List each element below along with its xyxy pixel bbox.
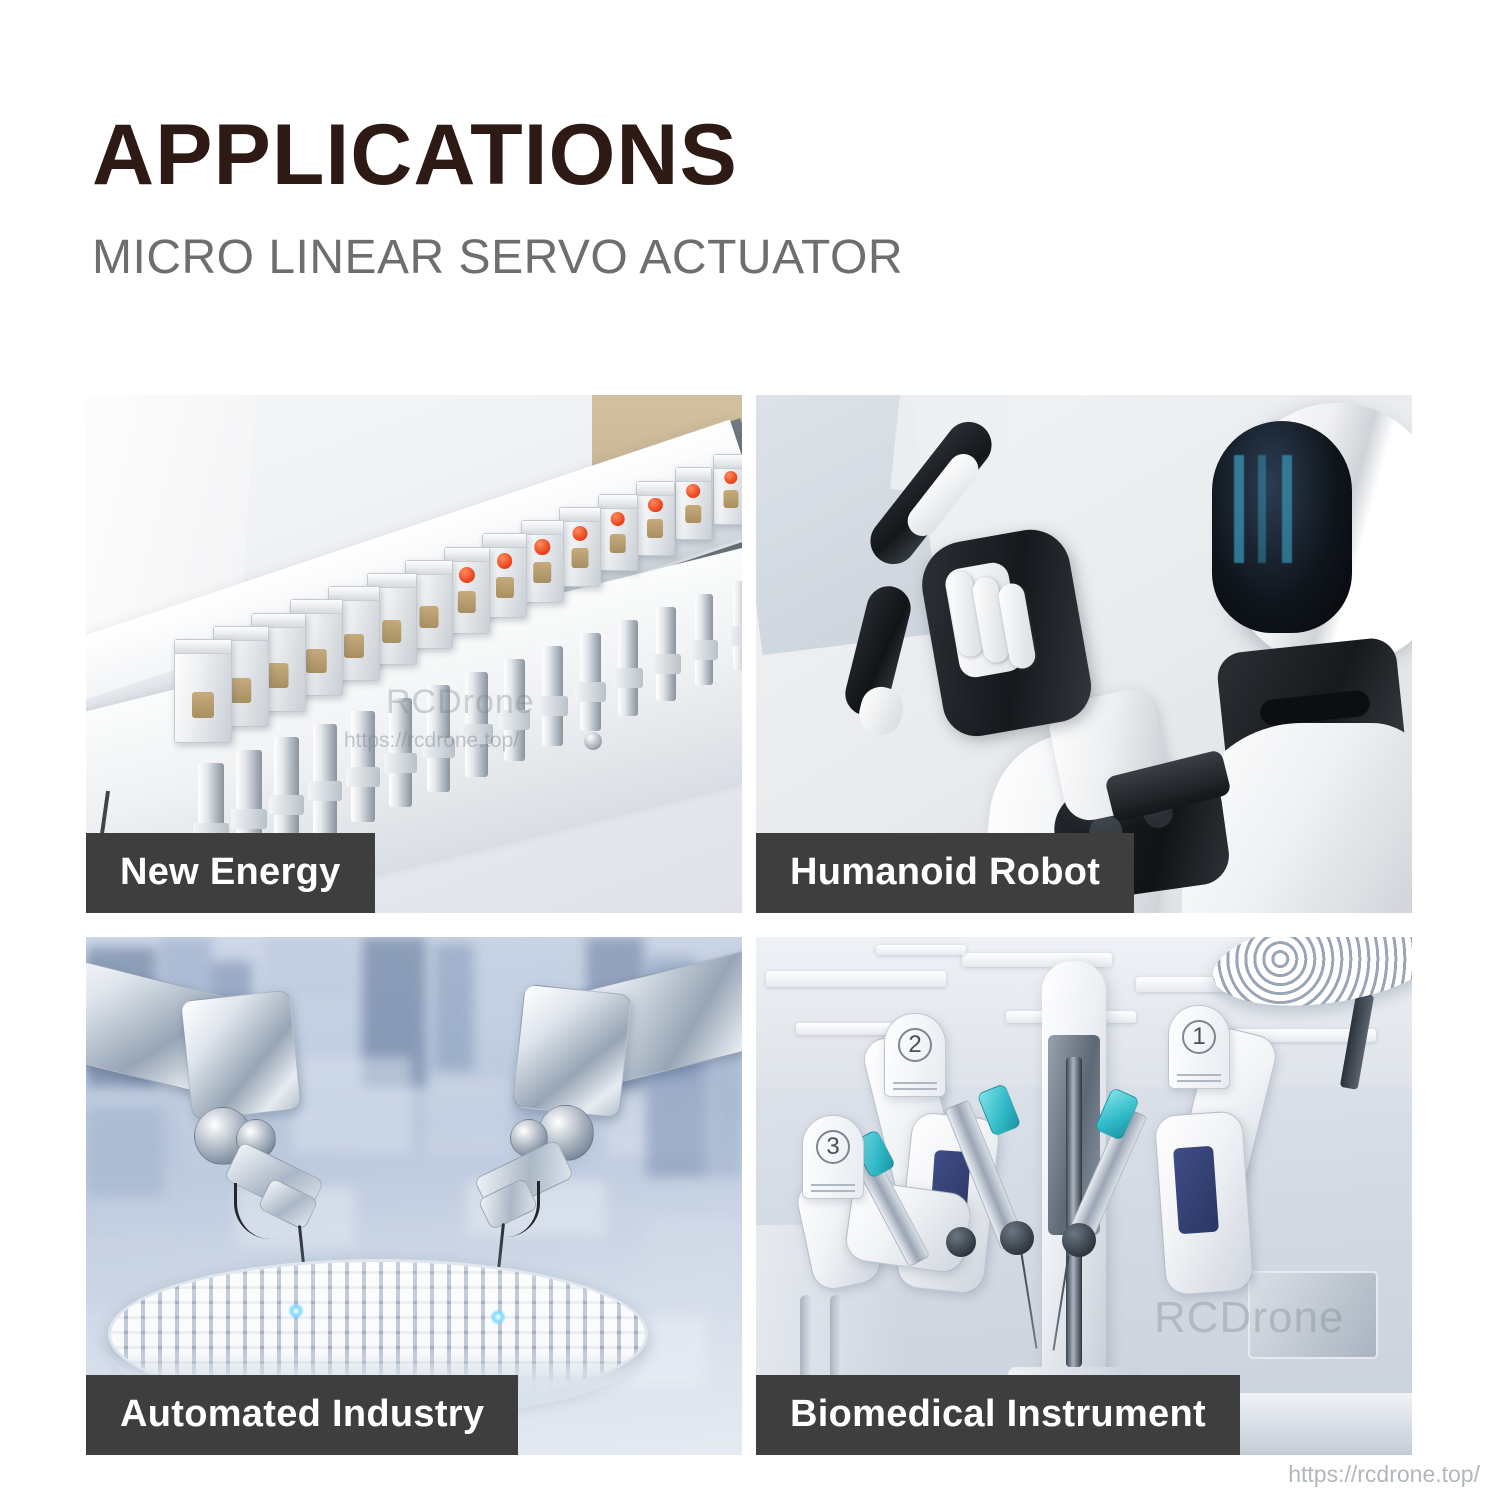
page-title: APPLICATIONS (92, 112, 903, 198)
applications-grid: RCDrone https://rcdrone.top/ New Energy (86, 395, 1412, 1455)
card-label-humanoid-robot: Humanoid Robot (756, 833, 1134, 913)
arm-number-2: 2 (898, 1028, 932, 1062)
card-label-new-energy: New Energy (86, 833, 375, 913)
arm-number-1: 1 (1182, 1020, 1216, 1054)
page-header: APPLICATIONS MICRO LINEAR SERVO ACTUATOR (92, 112, 903, 282)
arm-number-tag-2: 2 (884, 1013, 946, 1097)
arm-number-tag-1: 1 (1168, 1005, 1230, 1089)
card-label-biomedical-instrument: Biomedical Instrument (756, 1375, 1240, 1455)
footer-watermark-url: https://rcdrone.top/ (1288, 1461, 1480, 1488)
application-card-biomedical-instrument[interactable]: 1 2 3 RCDrone Biomedical Instrument (756, 937, 1412, 1455)
application-card-humanoid-robot[interactable]: Humanoid Robot (756, 395, 1412, 913)
application-card-automated-industry[interactable]: Automated Industry (86, 937, 742, 1455)
arm-number-tag-3: 3 (802, 1115, 864, 1199)
page-subtitle: MICRO LINEAR SERVO ACTUATOR (92, 234, 903, 282)
card-label-automated-industry: Automated Industry (86, 1375, 518, 1455)
arm-number-3: 3 (816, 1130, 850, 1164)
application-card-new-energy[interactable]: RCDrone https://rcdrone.top/ New Energy (86, 395, 742, 913)
applications-page: APPLICATIONS MICRO LINEAR SERVO ACTUATOR… (0, 0, 1500, 1500)
